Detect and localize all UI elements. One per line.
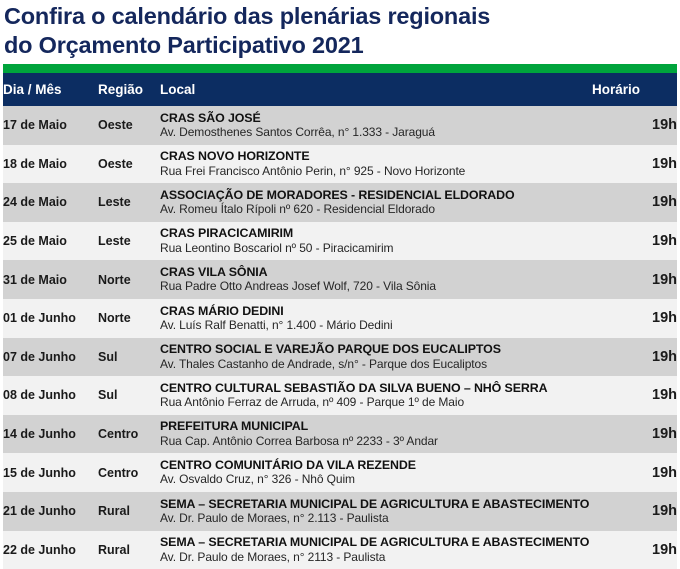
local-name: SEMA – SECRETARIA MUNICIPAL DE AGRICULTU… — [160, 497, 592, 511]
local-address: Av. Osvaldo Cruz, n° 326 - Nhô Quim — [160, 473, 592, 487]
cell-regiao: Rural — [98, 492, 160, 531]
cell-local: CRAS NOVO HORIZONTERua Frei Francisco An… — [160, 145, 592, 184]
cell-local: CENTRO SOCIAL E VAREJÃO PARQUE DOS EUCAL… — [160, 338, 592, 377]
table-row: 21 de JunhoRuralSEMA – SECRETARIA MUNICI… — [3, 492, 677, 531]
local-address: Rua Frei Francisco Antônio Perin, n° 925… — [160, 165, 592, 179]
cell-local: CRAS SÃO JOSÉAv. Demosthenes Santos Corr… — [160, 106, 592, 145]
local-name: CRAS NOVO HORIZONTE — [160, 149, 592, 163]
table-row: 22 de JunhoRuralSEMA – SECRETARIA MUNICI… — [3, 531, 677, 569]
cell-horario: 19h — [592, 222, 677, 261]
cell-dia: 08 de Junho — [3, 376, 98, 415]
table-row: 18 de MaioOesteCRAS NOVO HORIZONTERua Fr… — [3, 145, 677, 184]
cell-dia: 24 de Maio — [3, 183, 98, 222]
cell-dia: 31 de Maio — [3, 260, 98, 299]
cell-regiao: Leste — [98, 222, 160, 261]
cell-local: CRAS VILA SÔNIARua Padre Otto Andreas Jo… — [160, 260, 592, 299]
local-address: Av. Dr. Paulo de Moraes, n° 2.113 - Paul… — [160, 512, 592, 526]
local-name: ASSOCIAÇÃO DE MORADORES - RESIDENCIAL EL… — [160, 188, 592, 202]
local-name: CRAS SÃO JOSÉ — [160, 111, 592, 125]
table-row: 07 de JunhoSulCENTRO SOCIAL E VAREJÃO PA… — [3, 338, 677, 377]
local-name: CRAS MÁRIO DEDINI — [160, 304, 592, 318]
local-address: Av. Demosthenes Santos Corrêa, n° 1.333 … — [160, 126, 592, 140]
local-name: CENTRO SOCIAL E VAREJÃO PARQUE DOS EUCAL… — [160, 342, 592, 356]
cell-horario: 19h — [592, 183, 677, 222]
column-header-horario: Horário — [592, 73, 677, 106]
cell-regiao: Rural — [98, 531, 160, 569]
local-name: PREFEITURA MUNICIPAL — [160, 419, 592, 433]
cell-regiao: Oeste — [98, 145, 160, 184]
column-header-regiao: Região — [98, 73, 160, 106]
table-row: 14 de JunhoCentroPREFEITURA MUNICIPALRua… — [3, 415, 677, 454]
cell-dia: 01 de Junho — [3, 299, 98, 338]
cell-regiao: Centro — [98, 453, 160, 492]
cell-local: PREFEITURA MUNICIPALRua Cap. Antônio Cor… — [160, 415, 592, 454]
column-header-dia: Dia / Mês — [3, 73, 98, 106]
cell-horario: 19h — [592, 376, 677, 415]
column-header-local: Local — [160, 73, 592, 106]
cell-horario: 19h — [592, 260, 677, 299]
cell-local: SEMA – SECRETARIA MUNICIPAL DE AGRICULTU… — [160, 531, 592, 569]
table-row: 15 de JunhoCentroCENTRO COMUNITÁRIO DA V… — [3, 453, 677, 492]
cell-horario: 19h — [592, 106, 677, 145]
table-header: Dia / Mês Região Local Horário — [3, 73, 677, 106]
cell-dia: 18 de Maio — [3, 145, 98, 184]
local-address: Rua Leontino Boscariol nº 50 - Piracicam… — [160, 242, 592, 256]
cell-dia: 22 de Junho — [3, 531, 98, 569]
table-row: 08 de JunhoSulCENTRO CULTURAL SEBASTIÃO … — [3, 376, 677, 415]
cell-local: ASSOCIAÇÃO DE MORADORES - RESIDENCIAL EL… — [160, 183, 592, 222]
cell-horario: 19h — [592, 299, 677, 338]
local-address: Rua Padre Otto Andreas Josef Wolf, 720 -… — [160, 280, 592, 294]
cell-dia: 14 de Junho — [3, 415, 98, 454]
cell-horario: 19h — [592, 531, 677, 569]
table-header-row: Dia / Mês Região Local Horário — [3, 73, 677, 106]
cell-regiao: Sul — [98, 338, 160, 377]
table-row: 24 de MaioLesteASSOCIAÇÃO DE MORADORES -… — [3, 183, 677, 222]
local-address: Rua Antônio Ferraz de Arruda, nº 409 - P… — [160, 396, 592, 410]
page-title: Confira o calendário das plenárias regio… — [0, 0, 680, 60]
schedule-table: Dia / Mês Região Local Horário 17 de Mai… — [3, 73, 677, 569]
local-name: SEMA – SECRETARIA MUNICIPAL DE AGRICULTU… — [160, 535, 592, 549]
cell-horario: 19h — [592, 338, 677, 377]
page-title-line-1: Confira o calendário das plenárias regio… — [4, 2, 680, 31]
local-address: Rua Cap. Antônio Correa Barbosa nº 2233 … — [160, 435, 592, 449]
cell-local: CENTRO COMUNITÁRIO DA VILA REZENDEAv. Os… — [160, 453, 592, 492]
cell-regiao: Centro — [98, 415, 160, 454]
calendar-page: Confira o calendário das plenárias regio… — [0, 0, 680, 557]
table-row: 17 de MaioOesteCRAS SÃO JOSÉAv. Demosthe… — [3, 106, 677, 145]
cell-horario: 19h — [592, 453, 677, 492]
cell-dia: 15 de Junho — [3, 453, 98, 492]
green-accent-bar — [3, 64, 677, 73]
cell-regiao: Oeste — [98, 106, 160, 145]
table-row: 25 de MaioLesteCRAS PIRACICAMIRIMRua Leo… — [3, 222, 677, 261]
local-address: Av. Romeu Ítalo Rípoli nº 620 - Residenc… — [160, 203, 592, 217]
cell-regiao: Norte — [98, 299, 160, 338]
local-address: Av. Dr. Paulo de Moraes, n° 2113 - Pauli… — [160, 551, 592, 565]
cell-local: CRAS MÁRIO DEDINIAv. Luís Ralf Benatti, … — [160, 299, 592, 338]
local-name: CENTRO COMUNITÁRIO DA VILA REZENDE — [160, 458, 592, 472]
local-name: CENTRO CULTURAL SEBASTIÃO DA SILVA BUENO… — [160, 381, 592, 395]
cell-dia: 25 de Maio — [3, 222, 98, 261]
cell-horario: 19h — [592, 415, 677, 454]
page-title-line-2: do Orçamento Participativo 2021 — [4, 31, 680, 60]
local-address: Av. Luís Ralf Benatti, n° 1.400 - Mário … — [160, 319, 592, 333]
cell-dia: 07 de Junho — [3, 338, 98, 377]
cell-dia: 21 de Junho — [3, 492, 98, 531]
cell-regiao: Norte — [98, 260, 160, 299]
local-name: CRAS PIRACICAMIRIM — [160, 226, 592, 240]
cell-dia: 17 de Maio — [3, 106, 98, 145]
cell-local: CRAS PIRACICAMIRIMRua Leontino Boscariol… — [160, 222, 592, 261]
table-body: 17 de MaioOesteCRAS SÃO JOSÉAv. Demosthe… — [3, 106, 677, 569]
local-address: Av. Thales Castanho de Andrade, s/n° - P… — [160, 358, 592, 372]
cell-local: SEMA – SECRETARIA MUNICIPAL DE AGRICULTU… — [160, 492, 592, 531]
cell-horario: 19h — [592, 492, 677, 531]
cell-local: CENTRO CULTURAL SEBASTIÃO DA SILVA BUENO… — [160, 376, 592, 415]
table-row: 31 de MaioNorteCRAS VILA SÔNIARua Padre … — [3, 260, 677, 299]
cell-regiao: Leste — [98, 183, 160, 222]
local-name: CRAS VILA SÔNIA — [160, 265, 592, 279]
cell-horario: 19h — [592, 145, 677, 184]
cell-regiao: Sul — [98, 376, 160, 415]
table-row: 01 de JunhoNorteCRAS MÁRIO DEDINIAv. Luí… — [3, 299, 677, 338]
